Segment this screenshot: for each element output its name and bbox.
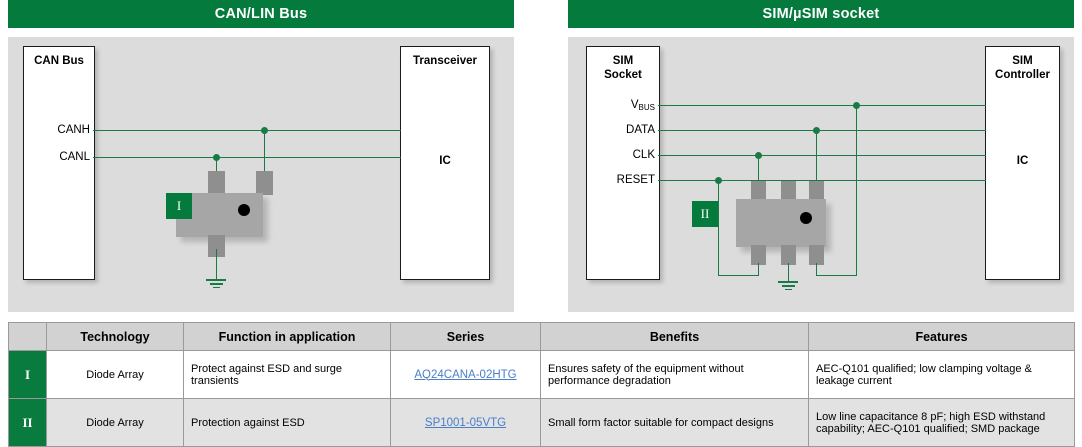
node-vbus-junction <box>853 102 860 109</box>
table-cell-series: AQ24CANA-02HTG <box>391 351 541 399</box>
diagram-sim-socket: SIM Socket SIM Controller IC VBUS DATA C… <box>568 37 1074 312</box>
pin-label-vbus-sub: BUS <box>639 103 655 112</box>
pin-label-canh: CANH <box>8 124 90 136</box>
wire-canh-drop <box>264 130 265 172</box>
wire-reset-tap <box>718 180 719 275</box>
wire-bottom-lead-2-ground <box>788 263 789 281</box>
package-pin1-marker-dot <box>238 204 250 216</box>
marker-roman-ii: II <box>692 201 718 227</box>
table-cell-features: AEC-Q101 qualified; low clamping voltage… <box>809 351 1075 399</box>
node-reset-junction <box>715 177 722 184</box>
table-cell-technology: Diode Array <box>47 399 184 447</box>
package2-lead-top-3 <box>809 181 824 201</box>
table-header-series: Series <box>391 323 541 351</box>
table-cell-series: SP1001-05VTG <box>391 399 541 447</box>
table-header-benefits: Benefits <box>541 323 809 351</box>
wire-bottom-lead-3-drop <box>816 263 817 275</box>
wire-canh <box>93 130 401 131</box>
node-clk-junction <box>755 152 762 159</box>
pin-label-canl: CANL <box>8 151 90 163</box>
package2-lead-bottom-3 <box>809 245 824 265</box>
block-transceiver-ic-label: IC <box>401 155 489 167</box>
table-cell-function: Protect against ESD and surge transients <box>184 351 391 399</box>
wire-clk-tap <box>758 155 759 182</box>
table-cell-function: Protection against ESD <box>184 399 391 447</box>
table-header-function: Function in application <box>184 323 391 351</box>
wire-canl <box>93 157 401 158</box>
table-row: II Diode Array Protection against ESD SP… <box>9 399 1075 447</box>
component-summary-table: Technology Function in application Serie… <box>8 322 1075 447</box>
application-diagram-page: CAN/LIN Bus CAN Bus Transceiver IC CANH … <box>0 0 1082 447</box>
panel-sim-socket: SIM/µSIM socket SIM Socket SIM Controlle… <box>568 0 1074 28</box>
table-cell-benefits: Ensures safety of the equipment without … <box>541 351 809 399</box>
package2-pin1-marker-dot <box>800 212 812 224</box>
block-can-bus-title: CAN Bus <box>24 55 94 68</box>
table-header-features: Features <box>809 323 1075 351</box>
panel-title-can-lin-bus: CAN/LIN Bus <box>8 0 514 28</box>
wire-clk <box>658 155 986 156</box>
pin-label-vbus-main: V <box>631 99 639 111</box>
table-cell-technology: Diode Array <box>47 351 184 399</box>
series-link[interactable]: AQ24CANA-02HTG <box>414 369 516 381</box>
block-sim-controller-title-line2: Controller <box>986 69 1059 82</box>
package2-lead-top-1 <box>751 181 766 201</box>
pin-label-reset: RESET <box>568 174 655 186</box>
block-sim-socket-title-line1: SIM <box>587 55 659 68</box>
wire-vbus-tap <box>856 105 857 275</box>
package2-body <box>736 199 826 247</box>
wire-ground-drop <box>216 249 217 279</box>
series-link[interactable]: SP1001-05VTG <box>425 417 506 429</box>
block-sim-controller: SIM Controller IC <box>985 46 1060 280</box>
ground-symbol <box>206 279 226 288</box>
wire-vbus <box>658 105 986 106</box>
table-cell-features: Low line capacitance 8 pF; high ESD with… <box>809 399 1075 447</box>
package2-lead-top-2 <box>781 181 796 201</box>
block-sim-controller-ic-label: IC <box>986 155 1059 167</box>
pin-label-clk: CLK <box>568 149 655 161</box>
wire-data-tap <box>816 130 817 182</box>
package2-lead-bottom-1 <box>751 245 766 265</box>
wire-bottom-lead-1-drop <box>758 263 759 275</box>
wire-reset-return <box>718 275 759 276</box>
pin-label-data: DATA <box>568 124 655 136</box>
node-data-junction <box>813 127 820 134</box>
block-sim-socket-title-line2: Socket <box>587 69 659 82</box>
table-header-index <box>9 323 47 351</box>
table-row: I Diode Array Protect against ESD and su… <box>9 351 1075 399</box>
package-lead-left <box>208 171 225 195</box>
wire-vbus-return <box>816 275 857 276</box>
block-sim-controller-title-line1: SIM <box>986 55 1059 68</box>
panel-can-lin-bus: CAN/LIN Bus CAN Bus Transceiver IC CANH … <box>8 0 514 28</box>
node-canh-junction <box>261 127 268 134</box>
diagram-can-lin-bus: CAN Bus Transceiver IC CANH CANL <box>8 37 514 312</box>
package2-lead-bottom-2 <box>781 245 796 265</box>
table-header-row: Technology Function in application Serie… <box>9 323 1075 351</box>
wire-data <box>658 130 986 131</box>
marker-roman-i: I <box>166 193 192 219</box>
block-can-bus: CAN Bus <box>23 46 95 280</box>
table-cell-index: I <box>9 351 47 399</box>
block-transceiver: Transceiver IC <box>400 46 490 280</box>
table-cell-benefits: Small form factor suitable for compact d… <box>541 399 809 447</box>
pin-label-vbus: VBUS <box>568 99 655 112</box>
package-lead-right <box>256 171 273 195</box>
table-header-technology: Technology <box>47 323 184 351</box>
ground-symbol-2 <box>778 281 798 290</box>
node-canl-junction <box>213 154 220 161</box>
block-sim-socket: SIM Socket <box>586 46 660 280</box>
table-cell-index: II <box>9 399 47 447</box>
block-transceiver-title: Transceiver <box>401 55 489 68</box>
panel-title-sim-socket: SIM/µSIM socket <box>568 0 1074 28</box>
